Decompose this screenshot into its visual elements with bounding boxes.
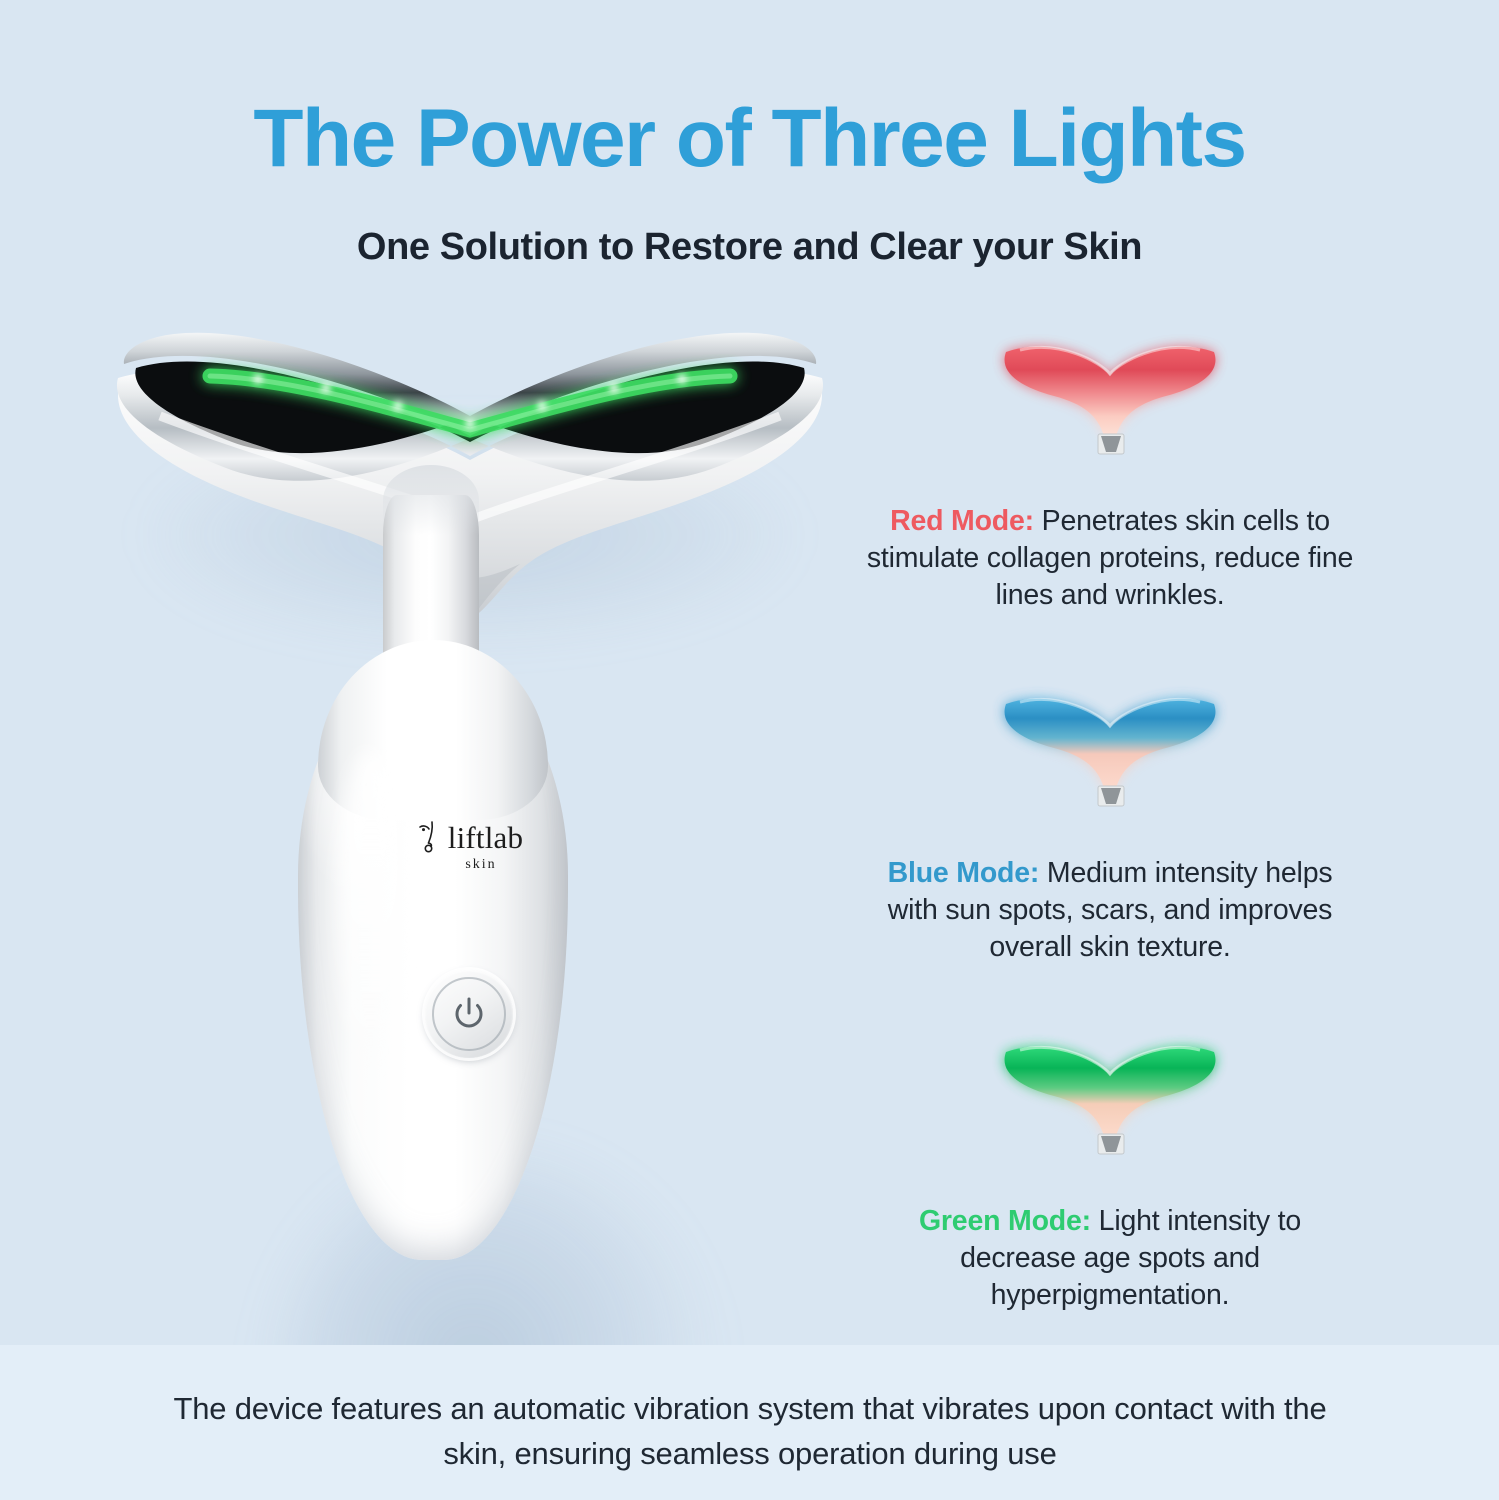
mode-green-text: Green Mode: Light intensity to decrease … <box>860 1203 1360 1314</box>
device-icon-green <box>980 1030 1240 1195</box>
infographic-page: The Power of Three Lights One Solution t… <box>0 0 1499 1500</box>
product-image: liftlab skin <box>90 320 850 1310</box>
device-body-gloss <box>336 750 406 1080</box>
mode-blue-figure <box>840 682 1380 847</box>
power-button[interactable] <box>425 970 513 1058</box>
mode-red-label: Red Mode: <box>890 505 1034 537</box>
brand-tagline: skin <box>465 857 496 873</box>
brand-name: liftlab <box>448 822 523 853</box>
face-profile-icon <box>417 820 443 854</box>
brand-logo: liftlab skin <box>380 820 560 892</box>
device-icon-blue <box>980 682 1240 847</box>
mode-blue-label: Blue Mode: <box>888 857 1040 889</box>
mode-green: Green Mode: Light intensity to decrease … <box>840 1030 1380 1314</box>
mode-red: Red Mode: Penetrates skin cells to stimu… <box>840 330 1380 614</box>
power-icon <box>449 994 489 1034</box>
mode-red-text: Red Mode: Penetrates skin cells to stimu… <box>860 503 1360 614</box>
header: The Power of Three Lights One Solution t… <box>0 0 1499 300</box>
page-title: The Power of Three Lights <box>0 98 1499 180</box>
mode-green-figure <box>840 1030 1380 1195</box>
mode-blue: Blue Mode: Medium intensity helps with s… <box>840 682 1380 966</box>
modes-column: Red Mode: Penetrates skin cells to stimu… <box>840 330 1380 1340</box>
device-icon-red <box>980 330 1240 495</box>
mode-green-label: Green Mode: <box>919 1205 1091 1237</box>
mode-blue-text: Blue Mode: Medium intensity helps with s… <box>860 855 1360 966</box>
page-subtitle: One Solution to Restore and Clear your S… <box>0 228 1499 266</box>
mode-red-figure <box>840 330 1380 495</box>
footer-text: The device features an automatic vibrati… <box>150 1387 1350 1477</box>
